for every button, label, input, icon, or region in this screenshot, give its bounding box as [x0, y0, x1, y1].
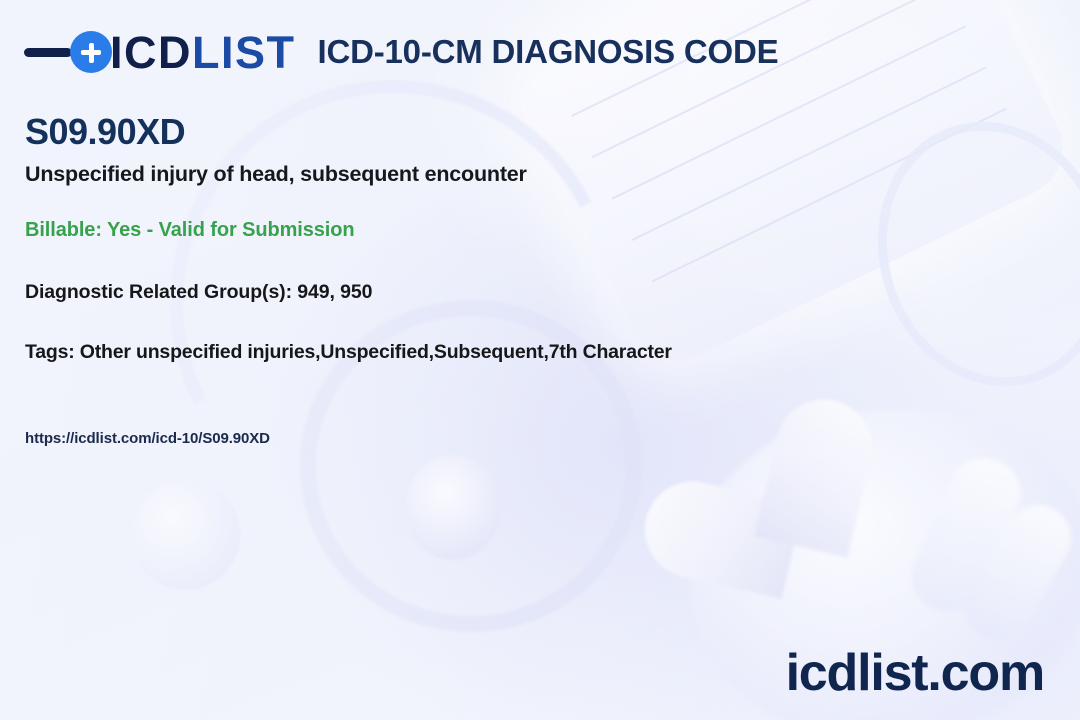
plus-circle-icon	[70, 31, 112, 73]
logo-word-icd: ICD	[110, 27, 192, 78]
finger-graphic	[901, 447, 1032, 622]
diagnosis-description: Unspecified injury of head, subsequent e…	[25, 162, 1035, 187]
diagnostic-related-groups: Diagnostic Related Group(s): 949, 950	[25, 281, 1035, 304]
diagnosis-code: S09.90XD	[25, 113, 1035, 151]
source-url[interactable]: https://icdlist.com/icd-10/S09.90XD	[25, 430, 1035, 447]
billable-status: Billable: Yes - Valid for Submission	[25, 219, 1035, 242]
header: ICDLIST ICD-10-CM DIAGNOSIS CODE	[0, 0, 1080, 104]
icdlist-logo[interactable]: ICDLIST	[24, 26, 296, 78]
tags-line: Tags: Other unspecified injuries,Unspeci…	[25, 341, 1035, 364]
finger-graphic	[953, 493, 1080, 652]
stethoscope-chestpiece-graphic	[405, 455, 500, 560]
footer-brand[interactable]: icdlist.com	[786, 647, 1044, 699]
logo-wordmark: ICDLIST	[110, 30, 296, 75]
header-title: ICD-10-CM DIAGNOSIS CODE	[318, 33, 779, 71]
logo-word-list: LIST	[192, 27, 296, 78]
stethoscope-bell-graphic	[130, 480, 240, 590]
main-content: S09.90XD Unspecified injury of head, sub…	[25, 104, 1035, 447]
dash-icon	[24, 48, 72, 57]
icd-code-card: ICDLIST ICD-10-CM DIAGNOSIS CODE S09.90X…	[0, 0, 1080, 720]
